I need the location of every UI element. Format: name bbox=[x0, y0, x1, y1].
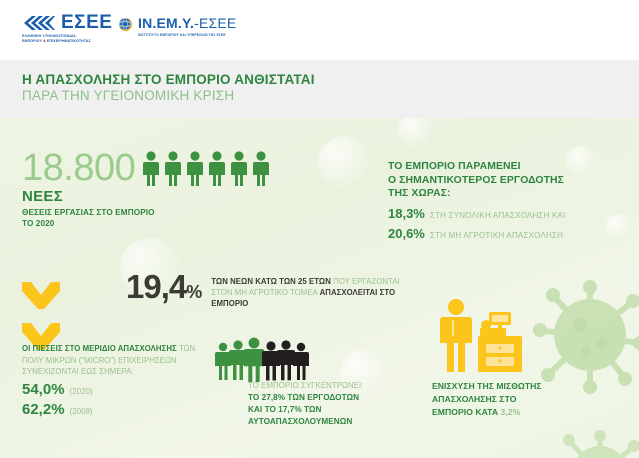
person-icon bbox=[186, 151, 204, 187]
page-subtitle: ΠΑΡΑ ΤΗΝ ΥΓΕΙΟΝΟΜΙΚΗ ΚΡΙΣΗ bbox=[22, 89, 234, 104]
virus-graphic-bottom bbox=[548, 418, 639, 458]
logo-bar: ΕΣΕΕ ΕΛΛΗΝΙΚΗ ΣΥΝΟΜΟΣΠΟΝΔΙΑ ΕΜΠΟΡΙΟΥ & Ε… bbox=[0, 0, 639, 60]
micro-firms-year: (2008) bbox=[70, 407, 93, 416]
infographic-page: ΕΣΕΕ ΕΛΛΗΝΙΚΗ ΣΥΝΟΜΟΣΠΟΝΔΙΑ ΕΜΠΟΡΙΟΥ & Ε… bbox=[0, 0, 639, 458]
inemy-name-suffix: ΕΣΕΕ bbox=[199, 15, 236, 31]
concentration-body-line1: ΤΟ 27,8% ΤΩΝ ΕΡΓΟΔΟΤΩΝ bbox=[248, 393, 359, 402]
new-jobs-label: ΝΕΕΣ bbox=[22, 188, 282, 205]
top-employer-stat-note: ΣΤΗ ΜΗ ΑΓΡΟΤΙΚΗ ΑΠΑΣΧΟΛΗΣΗ bbox=[430, 231, 563, 240]
youth-share-value: 19,4 bbox=[126, 268, 186, 305]
people-icon-row bbox=[142, 151, 270, 187]
inemy-wordmark: IN.EM.Y.-ΕΣΕΕ bbox=[138, 16, 236, 31]
inemy-logo: IN.EM.Y.-ΕΣΕΕ ΙΝΣΤΙΤΟΥΤΟ ΕΜΠΟΡΙΟΥ ΚΑΙ ΥΠ… bbox=[118, 16, 236, 37]
micro-firms-value-row: 62,2% (2008) bbox=[22, 401, 207, 418]
micro-firms-pct: 62,2% bbox=[22, 401, 65, 418]
person-icon bbox=[164, 151, 182, 187]
new-jobs-description: ΘΕΣΕΙΣ ΕΡΓΑΣΙΑΣ ΣΤΟ ΕΜΠΟΡΙΟ ΤΟ 2020 bbox=[22, 207, 282, 229]
person-icon bbox=[208, 151, 226, 187]
concentration-body-line3: ΑΥΤΟΑΠΑΣΧΟΛΟΥΜΕΝΩΝ bbox=[248, 417, 352, 426]
top-employer-block: ΤΟ ΕΜΠΟΡΙΟ ΠΑΡΑΜΕΝΕΙ Ο ΣΗΜΑΝΤΙΚΟΤΕΡΟΣ ΕΡ… bbox=[388, 160, 628, 241]
person-icon bbox=[252, 151, 270, 187]
esee-subtitle-line2c: ΕΠΙΧΕΙΡΗΜΑΤΙΚΟΤΗΤΑΣ bbox=[46, 39, 91, 43]
infographic-body: 18.800 ΝΕΕΣ ΘΕΣΕΙΣ ΕΡΓΑΣΙΑΣ ΣΤΟ ΕΜΠΟΡΙΟ … bbox=[0, 118, 639, 458]
youth-share-number: 19,4% bbox=[126, 270, 201, 303]
esee-chevron-mark-icon bbox=[22, 15, 55, 31]
concentration-block: ΤΟ ΕΜΠΟΡΙΟ ΣΥΓΚΕΝΤΡΩΝΕΙ: ΤΟ 27,8% ΤΩΝ ΕΡ… bbox=[248, 380, 438, 428]
person-icon bbox=[230, 151, 248, 187]
chevron-group bbox=[18, 278, 64, 353]
salaried-text-line2: ΑΠΑΣΧΟΛΗΣΗΣ ΣΤΟ bbox=[432, 394, 517, 404]
shopkeeper-cash-register-icon bbox=[434, 298, 530, 374]
esee-subtitle-line1: ΕΛΛΗΝΙΚΗ ΣΥΝΟΜΟΣΠΟΝΔΙΑ bbox=[22, 34, 76, 38]
top-employer-title-line3: ΤΗΣ ΧΩΡΑΣ: bbox=[388, 188, 451, 199]
person-icon bbox=[142, 151, 160, 187]
micro-firms-text: ΟΙ ΠΙΕΣΕΙΣ ΣΤΟ ΜΕΡΙΔΙΟ ΑΠΑΣΧΟΛΗΣΗΣ ΤΩΝ Π… bbox=[22, 343, 207, 378]
top-employer-title-line2: Ο ΣΗΜΑΝΤΙΚΟΤΕΡΟΣ ΕΡΓΟΔΟΤΗΣ bbox=[388, 175, 564, 186]
new-jobs-desc-line2: ΤΟ 2020 bbox=[22, 219, 54, 228]
top-employer-title-line1: ΤΟ ΕΜΠΟΡΙΟ ΠΑΡΑΜΕΝΕΙ bbox=[388, 161, 521, 172]
esee-subtitle: ΕΛΛΗΝΙΚΗ ΣΥΝΟΜΟΣΠΟΝΔΙΑ ΕΜΠΟΡΙΟΥ & ΕΠΙΧΕΙ… bbox=[22, 34, 91, 44]
micro-firms-text-bold: ΟΙ ΠΙΕΣΕΙΣ ΣΤΟ ΜΕΡΙΔΙΟ ΑΠΑΣΧΟΛΗΣΗΣ bbox=[22, 344, 179, 353]
background-bokeh-1 bbox=[318, 136, 370, 188]
chevron-down-icon bbox=[18, 278, 64, 312]
esee-subtitle-line2a: ΕΜΠΟΡΙΟΥ bbox=[22, 39, 43, 43]
top-employer-stat: 20,6% ΣΤΗ ΜΗ ΑΓΡΟΤΙΚΗ ΑΠΑΣΧΟΛΗΣΗ bbox=[388, 226, 628, 241]
salaried-employment-block: ΕΝΙΣΧΥΣΗ ΤΗΣ ΜΙΣΘΩΤΗΣ ΑΠΑΣΧΟΛΗΣΗΣ ΣΤΟ ΕΜ… bbox=[432, 380, 622, 419]
crowd-icon-group bbox=[212, 336, 312, 382]
youth-share-text: ΤΩΝ ΝΕΩΝ ΚΑΤΩ ΤΩΝ 25 ΕΤΩΝ ΠΟΥ ΕΡΓΑΖΟΝΤΑΙ… bbox=[211, 270, 411, 309]
title-band: Η ΑΠΑΣΧΟΛΗΣΗ ΣΤΟ ΕΜΠΟΡΙΟ ΑΝΘΙΣΤΑΤΑΙ ΠΑΡΑ… bbox=[0, 60, 639, 118]
new-jobs-desc-line1: ΘΕΣΕΙΣ ΕΡΓΑΣΙΑΣ ΣΤΟ ΕΜΠΟΡΙΟ bbox=[22, 208, 155, 217]
salaried-employment-text: ΕΝΙΣΧΥΣΗ ΤΗΣ ΜΙΣΘΩΤΗΣ ΑΠΑΣΧΟΛΗΣΗΣ ΣΤΟ ΕΜ… bbox=[432, 380, 622, 419]
micro-firms-year: (2020) bbox=[70, 387, 93, 396]
top-employer-stat-note: ΣΤΗ ΣΥΝΟΛΙΚΗ ΑΠΑΣΧΟΛΗΣΗ ΚΑΙ bbox=[430, 211, 566, 220]
globe-icon bbox=[118, 17, 133, 37]
salaried-text-value: 3,2% bbox=[501, 407, 521, 417]
esee-wordmark: ΕΣΕΕ bbox=[61, 13, 112, 32]
youth-share-block: 19,4% ΤΩΝ ΝΕΩΝ ΚΑΤΩ ΤΩΝ 25 ΕΤΩΝ ΠΟΥ ΕΡΓΑ… bbox=[126, 270, 411, 309]
concentration-body-line2: ΚΑΙ ΤΟ 17,7% ΤΩΝ bbox=[248, 405, 322, 414]
micro-firms-value-row: 54,0% (2020) bbox=[22, 381, 207, 398]
top-employer-stat-value: 18,3% bbox=[388, 206, 425, 221]
top-employer-title: ΤΟ ΕΜΠΟΡΙΟ ΠΑΡΑΜΕΝΕΙ Ο ΣΗΜΑΝΤΙΚΟΤΕΡΟΣ ΕΡ… bbox=[388, 160, 628, 201]
concentration-body: ΤΟ 27,8% ΤΩΝ ΕΡΓΟΔΟΤΩΝ ΚΑΙ ΤΟ 17,7% ΤΩΝ … bbox=[248, 392, 438, 428]
inemy-text: IN.EM.Y.-ΕΣΕΕ ΙΝΣΤΙΤΟΥΤΟ ΕΜΠΟΡΙΟΥ ΚΑΙ ΥΠ… bbox=[138, 16, 236, 37]
micro-firms-pct: 54,0% bbox=[22, 381, 65, 398]
top-employer-stat-value: 20,6% bbox=[388, 226, 425, 241]
background-bokeh-2 bbox=[398, 118, 434, 148]
youth-share-text-bold1: ΤΩΝ ΝΕΩΝ ΚΑΤΩ ΤΩΝ 25 ΕΤΩΝ bbox=[211, 277, 333, 286]
youth-share-percent-sign: % bbox=[186, 282, 201, 302]
esee-logo: ΕΣΕΕ ΕΛΛΗΝΙΚΗ ΣΥΝΟΜΟΣΠΟΝΔΙΑ ΕΜΠΟΡΙΟΥ & Ε… bbox=[22, 13, 112, 44]
concentration-lead: ΤΟ ΕΜΠΟΡΙΟ ΣΥΓΚΕΝΤΡΩΝΕΙ: bbox=[248, 380, 438, 391]
salaried-text-line3: ΕΜΠΟΡΙΟ ΚΑΤΑ bbox=[432, 407, 501, 417]
micro-firms-block: ΟΙ ΠΙΕΣΕΙΣ ΣΤΟ ΜΕΡΙΔΙΟ ΑΠΑΣΧΟΛΗΣΗΣ ΤΩΝ Π… bbox=[22, 343, 207, 418]
inemy-subtitle: ΙΝΣΤΙΤΟΥΤΟ ΕΜΠΟΡΙΟΥ ΚΑΙ ΥΠΗΡΕΣΙΩΝ ΤΗΣ ΕΣ… bbox=[138, 33, 236, 37]
page-title: Η ΑΠΑΣΧΟΛΗΣΗ ΣΤΟ ΕΜΠΟΡΙΟ ΑΝΘΙΣΤΑΤΑΙ bbox=[22, 73, 315, 88]
top-employer-stat: 18,3% ΣΤΗ ΣΥΝΟΛΙΚΗ ΑΠΑΣΧΟΛΗΣΗ ΚΑΙ bbox=[388, 206, 628, 221]
esee-logo-row: ΕΣΕΕ bbox=[22, 13, 112, 32]
inemy-name-prefix: IN.EM.Y. bbox=[138, 15, 194, 31]
salaried-text-line1: ΕΝΙΣΧΥΣΗ ΤΗΣ ΜΙΣΘΩΤΗΣ bbox=[432, 381, 542, 391]
